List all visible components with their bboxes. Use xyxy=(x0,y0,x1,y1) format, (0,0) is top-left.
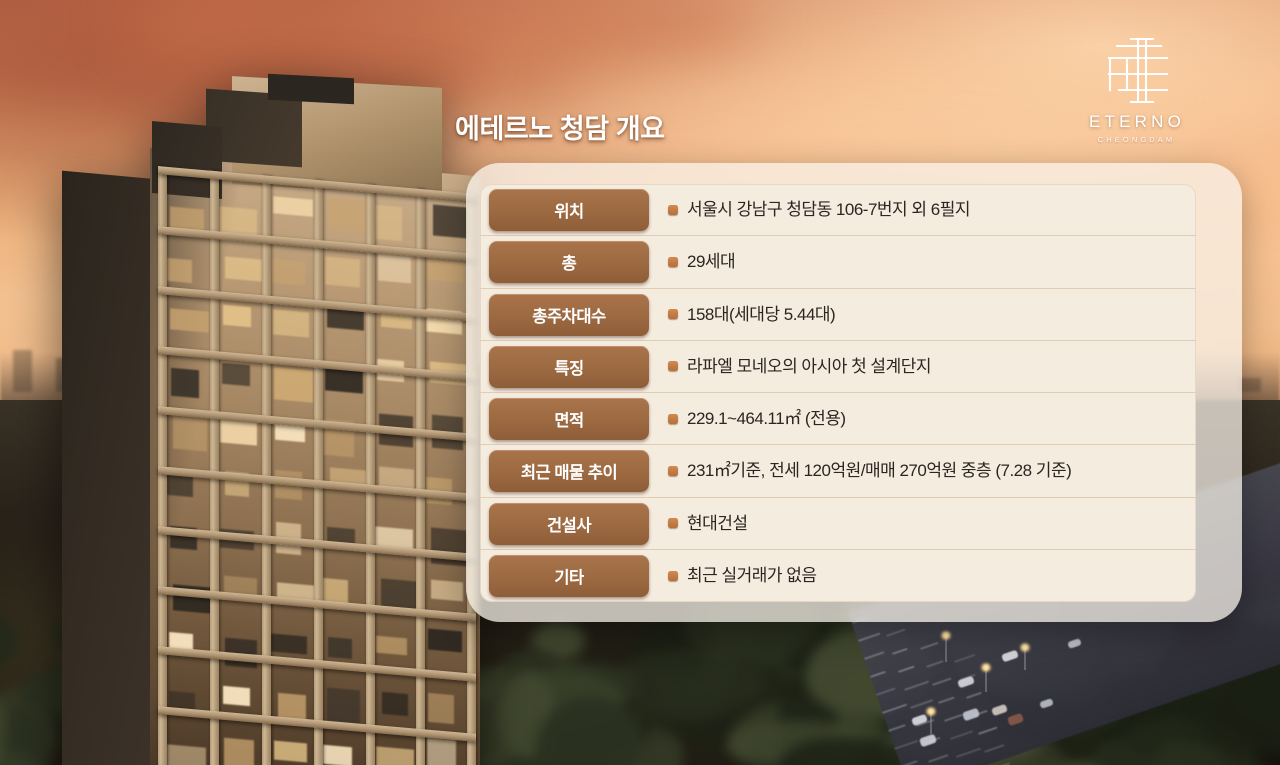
street-lamp-light xyxy=(1019,643,1031,652)
row-label-6: 건설사 xyxy=(489,503,649,545)
bullet-square-icon xyxy=(668,361,678,371)
row-value-text: 최근 실거래가 없음 xyxy=(687,567,817,584)
row-value-3: 라파엘 모네오의 아시아 첫 설계단지 xyxy=(668,358,931,375)
row-value-text: 29세대 xyxy=(687,253,735,270)
eterno-building-render xyxy=(62,52,462,752)
distant-building xyxy=(13,350,32,392)
slide-stage: 에테르노 청담 개요 ETERNO CHEONGDAM 위치서울시 강남구 청담… xyxy=(0,0,1280,765)
table-row: 총29세대 xyxy=(480,236,1196,288)
row-label-2: 총주차대수 xyxy=(489,294,649,336)
bullet-square-icon xyxy=(668,257,678,267)
facade-column xyxy=(366,184,375,765)
table-row: 건설사현대건설 xyxy=(480,498,1196,550)
building-roof-recess xyxy=(268,74,354,105)
row-label-1: 총 xyxy=(489,241,649,283)
row-value-text: 서울시 강남구 청담동 106-7번지 외 6필지 xyxy=(687,201,970,218)
street-lamp-light xyxy=(940,631,952,640)
table-row: 특징라파엘 모네오의 아시아 첫 설계단지 xyxy=(480,341,1196,393)
row-value-5: 231㎡기준, 전세 120억원/매매 270억원 중층 (7.28 기준) xyxy=(668,462,1071,479)
row-label-3: 특징 xyxy=(489,346,649,388)
logo-subtitle: CHEONGDAM xyxy=(1075,135,1195,144)
row-value-text: 158대(세대당 5.44대) xyxy=(687,306,835,323)
row-value-0: 서울시 강남구 청담동 106-7번지 외 6필지 xyxy=(668,201,970,218)
table-row: 최근 매물 추이231㎡기준, 전세 120억원/매매 270억원 중층 (7.… xyxy=(480,445,1196,497)
row-value-6: 현대건설 xyxy=(668,515,748,532)
bullet-square-icon xyxy=(668,518,678,528)
table-row: 총주차대수158대(세대당 5.44대) xyxy=(480,289,1196,341)
building-facade-lattice xyxy=(158,166,476,765)
row-label-5: 최근 매물 추이 xyxy=(489,450,649,492)
page-title: 에테르노 청담 개요 xyxy=(455,107,665,146)
distant-building xyxy=(1239,378,1261,392)
building-left-slab xyxy=(62,171,158,765)
bullet-square-icon xyxy=(668,414,678,424)
table-row: 기타최근 실거래가 없음 xyxy=(480,550,1196,602)
bullet-square-icon xyxy=(668,571,678,581)
row-value-2: 158대(세대당 5.44대) xyxy=(668,306,835,323)
row-label-4: 면적 xyxy=(489,398,649,440)
facade-column xyxy=(314,180,323,765)
bullet-square-icon xyxy=(668,466,678,476)
street-lamp-light xyxy=(980,663,992,672)
row-label-7: 기타 xyxy=(489,555,649,597)
row-value-7: 최근 실거래가 없음 xyxy=(668,567,817,584)
row-value-4: 229.1~464.11㎡ (전용) xyxy=(668,410,846,427)
facade-column xyxy=(416,189,425,765)
overview-table: 위치서울시 강남구 청담동 106-7번지 외 6필지총29세대총주차대수158… xyxy=(480,184,1196,602)
row-label-0: 위치 xyxy=(489,189,649,231)
logo-wordmark: ETERNO xyxy=(1075,112,1195,132)
eterno-logo: ETERNO CHEONGDAM xyxy=(1075,34,1195,144)
bullet-square-icon xyxy=(668,309,678,319)
bullet-square-icon xyxy=(668,205,678,215)
lattice-grid-icon xyxy=(1075,34,1195,108)
row-value-text: 현대건설 xyxy=(687,515,748,532)
street-lamp-light xyxy=(925,707,937,716)
table-row: 면적229.1~464.11㎡ (전용) xyxy=(480,393,1196,445)
row-value-text: 라파엘 모네오의 아시아 첫 설계단지 xyxy=(687,358,931,375)
row-value-text: 231㎡기준, 전세 120억원/매매 270억원 중층 (7.28 기준) xyxy=(687,462,1071,479)
row-value-text: 229.1~464.11㎡ (전용) xyxy=(687,410,846,427)
facade-column xyxy=(262,175,271,765)
facade-column xyxy=(210,171,219,765)
table-row: 위치서울시 강남구 청담동 106-7번지 외 6필지 xyxy=(480,184,1196,236)
row-value-1: 29세대 xyxy=(668,253,735,270)
